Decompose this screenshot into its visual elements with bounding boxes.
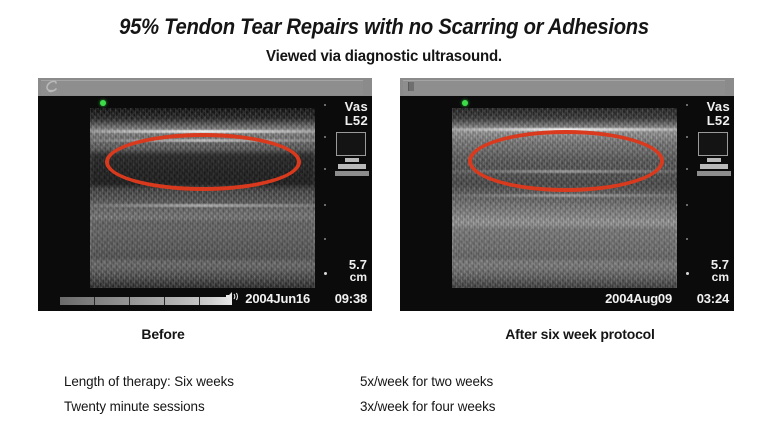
red-ellipse-marker bbox=[468, 130, 664, 192]
depth-tick bbox=[324, 238, 326, 240]
probe-label: Vas bbox=[707, 100, 730, 113]
depth-tick-major bbox=[324, 272, 327, 275]
red-ellipse-marker bbox=[105, 133, 301, 191]
sidebar-preview-box bbox=[698, 132, 728, 156]
small-marker-icon bbox=[408, 82, 414, 91]
green-status-dot bbox=[462, 100, 468, 106]
caption-after: After six week protocol bbox=[440, 326, 720, 342]
ramp-tick bbox=[164, 297, 165, 305]
deep-tissue-shadow bbox=[452, 226, 677, 260]
caption-before: Before bbox=[38, 326, 288, 342]
ramp-tick bbox=[94, 297, 95, 305]
sidebar-gain-bar-3 bbox=[335, 171, 369, 176]
probe-model-label: L52 bbox=[707, 114, 730, 127]
ultrasound-panel-after: Vas L52 5.7 cm 2004Aug09 03:24 bbox=[400, 78, 734, 311]
note-session-length: Twenty minute sessions bbox=[64, 398, 205, 414]
tissue-band-bright-3 bbox=[90, 204, 315, 207]
probe-label: Vas bbox=[345, 100, 368, 113]
sidebar-gain-bar-1 bbox=[345, 158, 359, 162]
depth-tick bbox=[686, 168, 688, 170]
sidebar-gain-bar-1 bbox=[707, 158, 721, 162]
grayscale-ramp-bar bbox=[60, 297, 232, 305]
speaker-icon bbox=[226, 288, 240, 297]
page-subtitle: Viewed via diagnostic ultrasound. bbox=[23, 48, 745, 66]
sidebar-gain-bar-2 bbox=[338, 164, 366, 169]
ultrasound-toolbar bbox=[400, 78, 734, 96]
depth-readout: 5.7 cm bbox=[711, 259, 729, 283]
sidebar-gain-bar-2 bbox=[700, 164, 728, 169]
depth-tick bbox=[686, 238, 688, 240]
note-frequency-phase-2: 3x/week for four weeks bbox=[360, 398, 495, 414]
healed-tendon-band-2 bbox=[452, 194, 677, 197]
ultrasound-toolbar bbox=[38, 78, 372, 96]
scan-time: 09:38 bbox=[335, 291, 367, 306]
depth-readout: 5.7 cm bbox=[349, 259, 367, 283]
swirl-logo-icon bbox=[44, 80, 60, 94]
depth-tick bbox=[324, 136, 326, 138]
scan-time: 03:24 bbox=[697, 291, 729, 306]
scan-date: 2004Aug09 bbox=[605, 291, 672, 306]
toolbar-inner-strip bbox=[403, 80, 725, 95]
depth-tick bbox=[324, 168, 326, 170]
depth-tick-major bbox=[686, 272, 689, 275]
depth-tick bbox=[324, 204, 326, 206]
ultrasound-status-bar: 2004Aug09 03:24 bbox=[400, 290, 734, 306]
ramp-tick bbox=[199, 297, 200, 305]
ultrasound-panel-before: Vas L52 5.7 cm 2004Jun16 bbox=[38, 78, 372, 311]
note-frequency-phase-1: 5x/week for two weeks bbox=[360, 373, 493, 389]
sidebar-gain-bar-3 bbox=[697, 171, 731, 176]
depth-tick bbox=[686, 136, 688, 138]
ultrasound-sidebar: Vas L52 5.7 cm bbox=[322, 96, 372, 311]
depth-tick bbox=[324, 104, 326, 106]
note-therapy-length: Length of therapy: Six weeks bbox=[64, 373, 234, 389]
probe-model-label: L52 bbox=[345, 114, 368, 127]
ultrasound-status-bar: 2004Jun16 09:38 bbox=[38, 290, 372, 306]
ultrasound-sidebar: Vas L52 5.7 cm bbox=[684, 96, 734, 311]
depth-tick bbox=[686, 104, 688, 106]
page-title: 95% Tendon Tear Repairs with no Scarring… bbox=[31, 14, 738, 40]
green-status-dot bbox=[100, 100, 106, 106]
sidebar-preview-box bbox=[336, 132, 366, 156]
depth-tick bbox=[686, 204, 688, 206]
depth-unit: cm bbox=[349, 271, 367, 283]
scan-date: 2004Jun16 bbox=[245, 291, 310, 306]
deep-tissue-shadow bbox=[90, 220, 315, 260]
toolbar-inner-strip bbox=[41, 80, 363, 95]
depth-unit: cm bbox=[711, 271, 729, 283]
ramp-tick bbox=[129, 297, 130, 305]
